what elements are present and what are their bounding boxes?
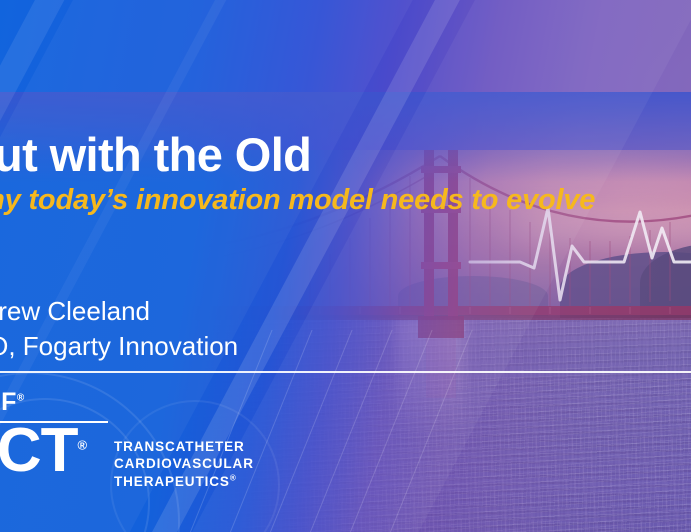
tct-full-name: TRANSCATHETER CARDIOVASCULAR THERAPEUTIC… bbox=[114, 438, 254, 490]
logo-lockup: CRF® TCT® TRANSCATHETER CARDIOVASCULAR T… bbox=[0, 388, 294, 508]
crf-registered-icon: ® bbox=[17, 393, 25, 404]
tct-name-line-3-wrap: THERAPEUTICS® bbox=[114, 473, 254, 490]
divider-rule bbox=[0, 371, 691, 373]
crf-logo: CRF® bbox=[0, 388, 25, 417]
tct-name-line-2: CARDIOVASCULAR bbox=[114, 455, 254, 472]
thin-diagonal-line bbox=[300, 330, 481, 532]
crf-logo-text: CRF bbox=[0, 388, 17, 416]
slide-title: Out with the Old bbox=[0, 131, 311, 178]
tct-name-registered-icon: ® bbox=[230, 473, 237, 482]
tct-logo: TCT® bbox=[0, 420, 86, 482]
tct-logo-text: TCT bbox=[0, 416, 78, 485]
speaker-name: Andrew Cleeland bbox=[0, 295, 150, 328]
tct-name-line-1: TRANSCATHETER bbox=[114, 438, 254, 455]
speaker-affiliation: CEO, Fogarty Innovation bbox=[0, 330, 238, 363]
tct-name-line-3: THERAPEUTICS bbox=[114, 474, 230, 489]
slide-subtitle: Why today’s innovation model needs to ev… bbox=[0, 186, 595, 215]
thin-diagonal-line bbox=[340, 330, 521, 532]
presentation-slide: Out with the Old Why today’s innovation … bbox=[0, 0, 691, 532]
tct-registered-icon: ® bbox=[78, 437, 87, 452]
